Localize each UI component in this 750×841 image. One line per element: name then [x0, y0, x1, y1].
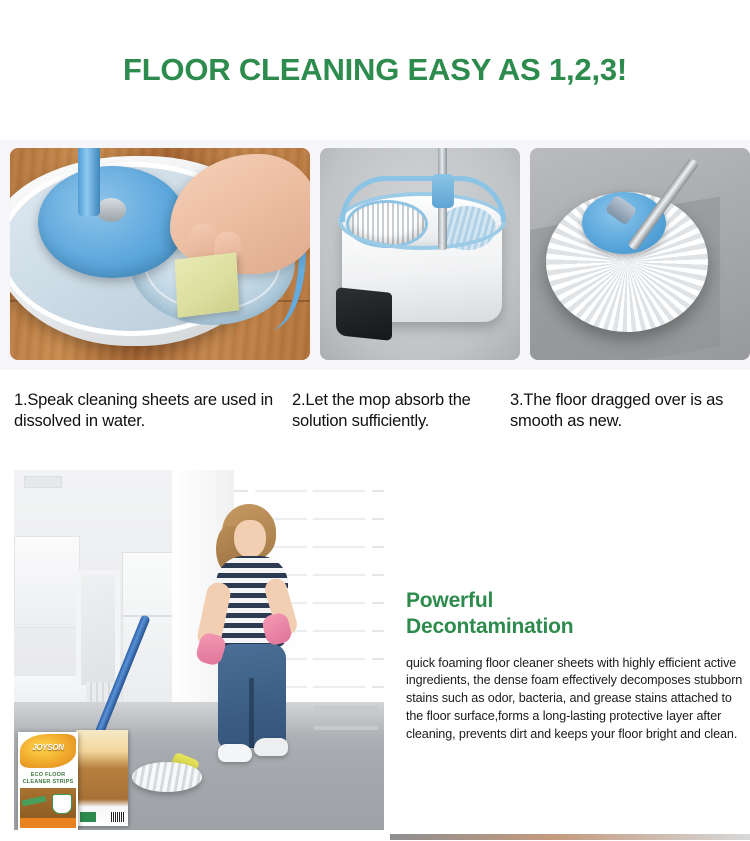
step-caption-1: 1.Speak cleaning sheets are used in diss…	[14, 390, 292, 470]
barcode	[111, 812, 125, 822]
box-illustration	[20, 788, 76, 820]
brand-name: JOYSON	[18, 743, 78, 752]
feature-heading-line2: Decontamination	[406, 615, 573, 638]
window-rail	[314, 706, 378, 710]
box-strip-graphic	[22, 796, 47, 807]
spinner-plate	[38, 166, 186, 278]
sneaker	[218, 744, 252, 762]
step-image-3	[530, 148, 750, 360]
bucket-handle	[340, 176, 506, 222]
step-caption-3: 3.The floor dragged over is as smooth as…	[510, 390, 736, 470]
feature-photo: JOYSON ECO FLOOR CLEANER STRIPS	[14, 470, 384, 830]
sneaker	[254, 738, 288, 756]
glass-door	[76, 570, 120, 690]
step-image-2	[320, 148, 520, 360]
face	[234, 520, 266, 558]
window-rail	[314, 726, 378, 730]
feature-heading-line1: Powerful	[406, 589, 493, 612]
feature-heading: Powerful Decontamination	[406, 588, 744, 641]
box-bucket-graphic	[52, 794, 72, 814]
pole-clip	[432, 174, 454, 208]
product-name-line2: CLEANER STRIPS	[23, 779, 74, 785]
product-name: ECO FLOOR CLEANER STRIPS	[18, 772, 78, 787]
spinner-hub	[96, 198, 126, 222]
ceiling-light	[24, 476, 62, 488]
woman-mopping	[196, 504, 316, 776]
product-box-overlay: JOYSON ECO FLOOR CLEANER STRIPS	[14, 730, 134, 830]
feature-section: JOYSON ECO FLOOR CLEANER STRIPS Powerful…	[0, 470, 750, 840]
foot-pedal	[336, 287, 392, 341]
page-title: FLOOR CLEANING EASY AS 1,2,3!	[123, 52, 627, 88]
feature-description: quick foaming floor cleaner sheets with …	[406, 655, 744, 744]
page-header: FLOOR CLEANING EASY AS 1,2,3!	[0, 0, 750, 140]
product-name-line1: ECO FLOOR	[31, 772, 66, 778]
step-image-strip	[0, 140, 750, 370]
mop-head-on-floor	[132, 762, 202, 792]
box-footer-band	[20, 818, 76, 828]
kitchen-cabinets	[14, 536, 80, 628]
step-image-1	[10, 148, 310, 360]
cleaning-sheet	[175, 252, 240, 318]
step-captions: 1.Speak cleaning sheets are used in diss…	[0, 370, 750, 470]
product-box-front: JOYSON ECO FLOOR CLEANER STRIPS	[18, 732, 78, 830]
feature-text-column: Powerful Decontamination quick foaming f…	[384, 470, 750, 840]
next-section-sliver	[390, 834, 750, 840]
product-box-back	[76, 730, 128, 826]
jeans	[218, 644, 286, 748]
step-caption-2: 2.Let the mop absorb the solution suffic…	[292, 390, 510, 470]
mop-handle	[78, 148, 100, 216]
eco-label	[80, 812, 96, 822]
